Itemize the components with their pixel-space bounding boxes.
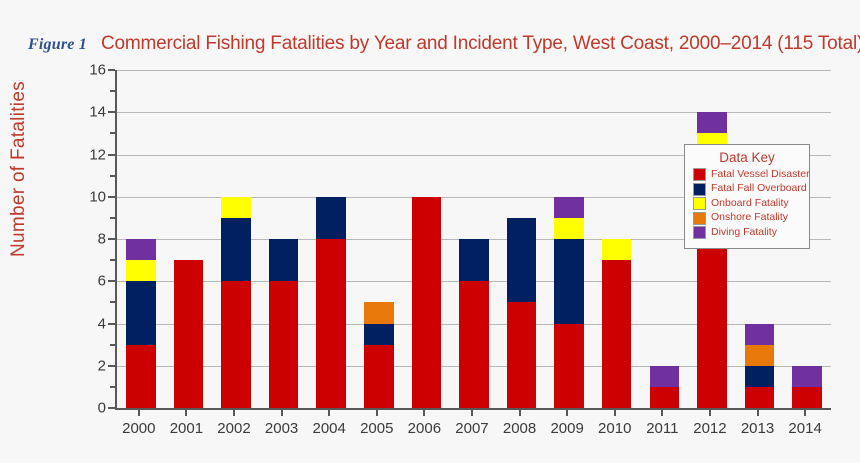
bar-segment[interactable] xyxy=(602,239,632,260)
bar-segment[interactable] xyxy=(602,260,632,408)
legend-swatch-icon xyxy=(693,197,706,210)
bar-group-2005[interactable] xyxy=(355,70,403,408)
bar-segment[interactable] xyxy=(792,387,822,408)
x-axis-tick xyxy=(376,410,378,416)
x-axis-tick xyxy=(519,410,521,416)
x-axis-cell: 2010 xyxy=(591,410,639,440)
legend-item[interactable]: Fatal Fall Overboard xyxy=(693,183,801,196)
bar-segment[interactable] xyxy=(126,281,156,344)
x-axis-tick-label: 2011 xyxy=(639,420,687,437)
bar-segment[interactable] xyxy=(507,302,537,408)
y-axis-tick-label: 16 xyxy=(89,62,106,79)
x-axis-tick xyxy=(423,410,425,416)
x-axis-tick-label: 2013 xyxy=(734,420,782,437)
y-axis-minor-tick xyxy=(110,259,115,261)
y-axis-tick xyxy=(108,238,115,240)
bar-segment[interactable] xyxy=(364,302,394,323)
bar-segment[interactable] xyxy=(364,345,394,408)
x-axis-cell: 2008 xyxy=(496,410,544,440)
bar-segment[interactable] xyxy=(650,366,680,387)
bar-stack[interactable] xyxy=(650,366,680,408)
y-axis-minor-tick xyxy=(110,301,115,303)
bar-segment[interactable] xyxy=(269,239,299,281)
y-axis-tick xyxy=(108,69,115,71)
x-axis: 2000200120022003200420052006200720082009… xyxy=(115,410,829,440)
x-axis-tick xyxy=(709,410,711,416)
bar-segment[interactable] xyxy=(221,281,251,408)
x-axis-tick-label: 2002 xyxy=(210,420,258,437)
x-axis-cell: 2003 xyxy=(258,410,306,440)
legend-item[interactable]: Fatal Vessel Disaster xyxy=(693,168,801,181)
bar-stack[interactable] xyxy=(745,324,775,409)
legend-swatch-icon xyxy=(693,212,706,225)
x-axis-cell: 2009 xyxy=(543,410,591,440)
y-axis-tick-label: 2 xyxy=(98,357,106,374)
bar-stack[interactable] xyxy=(412,197,442,408)
bar-segment[interactable] xyxy=(412,197,442,408)
x-axis-tick xyxy=(281,410,283,416)
x-axis-cell: 2011 xyxy=(639,410,687,440)
y-axis-tick xyxy=(108,407,115,409)
bar-group-2008[interactable] xyxy=(498,70,546,408)
legend-label: Onshore Fatality xyxy=(711,212,788,224)
x-axis-tick xyxy=(804,410,806,416)
y-axis-minor-tick xyxy=(110,386,115,388)
y-axis-tick-label: 0 xyxy=(98,400,106,417)
bar-segment[interactable] xyxy=(126,345,156,408)
bar-group-2009[interactable] xyxy=(545,70,593,408)
figure-header: Figure 1 Commercial Fishing Fatalities b… xyxy=(28,33,860,55)
x-axis-tick xyxy=(566,410,568,416)
x-axis-tick-label: 2005 xyxy=(353,420,401,437)
x-axis-tick-label: 2001 xyxy=(163,420,211,437)
bar-segment[interactable] xyxy=(697,112,727,133)
x-axis-tick-label: 2000 xyxy=(115,420,163,437)
bar-segment[interactable] xyxy=(745,387,775,408)
y-axis-minor-tick xyxy=(110,175,115,177)
bar-segment[interactable] xyxy=(745,324,775,345)
bar-group-2011[interactable] xyxy=(641,70,689,408)
x-axis-cell: 2013 xyxy=(734,410,782,440)
y-axis-tick-label: 8 xyxy=(98,231,106,248)
y-axis-minor-tick xyxy=(110,132,115,134)
y-axis-tick-label: 4 xyxy=(98,315,106,332)
x-axis-tick-label: 2006 xyxy=(401,420,449,437)
x-axis-cell: 2014 xyxy=(781,410,829,440)
bar-segment[interactable] xyxy=(316,197,346,239)
x-axis-cell: 2002 xyxy=(210,410,258,440)
x-axis-tick xyxy=(328,410,330,416)
bar-stack[interactable] xyxy=(507,218,537,408)
bar-group-2006[interactable] xyxy=(403,70,451,408)
legend-items: Fatal Vessel DisasterFatal Fall Overboar… xyxy=(693,168,801,239)
bar-segment[interactable] xyxy=(269,281,299,408)
bar-segment[interactable] xyxy=(221,197,251,218)
legend-swatch-icon xyxy=(693,168,706,181)
bar-segment[interactable] xyxy=(221,218,251,281)
x-axis-cell: 2005 xyxy=(353,410,401,440)
legend-item[interactable]: Onboard Fatality xyxy=(693,197,801,210)
bar-group-2007[interactable] xyxy=(450,70,498,408)
bar-stack[interactable] xyxy=(602,239,632,408)
legend-label: Fatal Vessel Disaster xyxy=(711,169,810,181)
x-axis-tick-label: 2004 xyxy=(305,420,353,437)
bar-segment[interactable] xyxy=(459,239,489,281)
y-axis-minor-tick xyxy=(110,344,115,346)
x-axis-tick-label: 2003 xyxy=(258,420,306,437)
figure-container: Figure 1 Commercial Fishing Fatalities b… xyxy=(0,0,860,463)
x-axis-cell: 2012 xyxy=(686,410,734,440)
legend-label: Diving Fatality xyxy=(711,227,777,239)
y-axis-tick xyxy=(108,323,115,325)
bar-segment[interactable] xyxy=(126,239,156,260)
bar-segment[interactable] xyxy=(316,239,346,408)
bar-segment[interactable] xyxy=(174,260,204,408)
bar-group-2004[interactable] xyxy=(307,70,355,408)
x-axis-cell: 2000 xyxy=(115,410,163,440)
legend-item[interactable]: Diving Fatality xyxy=(693,226,801,239)
x-axis-tick-label: 2007 xyxy=(448,420,496,437)
x-axis-tick-label: 2014 xyxy=(781,420,829,437)
bar-stack[interactable] xyxy=(269,239,299,408)
bar-group-2003[interactable] xyxy=(260,70,308,408)
bar-stack[interactable] xyxy=(792,366,822,408)
legend-swatch-icon xyxy=(693,183,706,196)
bar-segment[interactable] xyxy=(697,239,727,408)
bar-group-2001[interactable] xyxy=(165,70,213,408)
x-axis-tick xyxy=(471,410,473,416)
bar-segment[interactable] xyxy=(126,260,156,281)
bar-group-2000[interactable] xyxy=(117,70,165,408)
legend-title: Data Key xyxy=(693,150,801,165)
y-axis-labels: 0246810121416 xyxy=(62,70,106,408)
y-axis-minor-tick xyxy=(110,217,115,219)
bar-segment[interactable] xyxy=(554,239,584,324)
x-axis-tick xyxy=(661,410,663,416)
legend-item[interactable]: Onshore Fatality xyxy=(693,212,801,225)
bar-segment[interactable] xyxy=(650,387,680,408)
legend-swatch-icon xyxy=(693,226,706,239)
x-axis-cell: 2006 xyxy=(401,410,449,440)
bar-stack[interactable] xyxy=(554,197,584,408)
x-axis-tick-label: 2012 xyxy=(686,420,734,437)
x-axis-cell: 2007 xyxy=(448,410,496,440)
bar-segment[interactable] xyxy=(459,281,489,408)
bar-stack[interactable] xyxy=(459,239,489,408)
x-axis-tick xyxy=(614,410,616,416)
x-axis-tick xyxy=(185,410,187,416)
bar-group-2010[interactable] xyxy=(593,70,641,408)
bar-stack[interactable] xyxy=(126,239,156,408)
x-axis-cell: 2001 xyxy=(163,410,211,440)
legend-label: Onboard Fatality xyxy=(711,198,789,210)
x-axis-tick-label: 2010 xyxy=(591,420,639,437)
chart-legend: Data Key Fatal Vessel DisasterFatal Fall… xyxy=(684,144,810,249)
bar-group-2002[interactable] xyxy=(212,70,260,408)
x-axis-tick xyxy=(233,410,235,416)
bar-segment[interactable] xyxy=(554,197,584,218)
bar-segment[interactable] xyxy=(554,324,584,409)
bar-segment[interactable] xyxy=(507,218,537,303)
y-axis-tick xyxy=(108,365,115,367)
bar-stack[interactable] xyxy=(174,260,204,408)
y-axis-tick-label: 14 xyxy=(89,104,106,121)
bar-stack[interactable] xyxy=(364,302,394,408)
y-axis-minor-tick xyxy=(110,90,115,92)
y-axis-tick xyxy=(108,196,115,198)
y-axis-tick xyxy=(108,111,115,113)
figure-label: Figure 1 xyxy=(28,36,87,54)
y-axis-tick-label: 6 xyxy=(98,273,106,290)
bar-segment[interactable] xyxy=(745,345,775,366)
x-axis-tick-label: 2008 xyxy=(496,420,544,437)
y-axis-tick-label: 10 xyxy=(89,188,106,205)
x-axis-cell: 2004 xyxy=(305,410,353,440)
x-axis-tick-label: 2009 xyxy=(543,420,591,437)
y-axis-tick xyxy=(108,154,115,156)
y-axis-tick-label: 12 xyxy=(89,146,106,163)
legend-label: Fatal Fall Overboard xyxy=(711,183,807,195)
x-axis-tick xyxy=(138,410,140,416)
x-axis-tick xyxy=(757,410,759,416)
bar-segment[interactable] xyxy=(554,218,584,239)
y-axis-tick xyxy=(108,280,115,282)
bar-segment[interactable] xyxy=(792,366,822,387)
bar-segment[interactable] xyxy=(745,366,775,387)
plot-area: Data Key Fatal Vessel DisasterFatal Fall… xyxy=(115,70,831,410)
bar-stack[interactable] xyxy=(221,197,251,408)
bar-segment[interactable] xyxy=(364,324,394,345)
figure-title: Commercial Fishing Fatalities by Year an… xyxy=(101,33,860,55)
y-axis-title: Number of Fatalities xyxy=(8,4,30,334)
bar-stack[interactable] xyxy=(316,197,346,408)
